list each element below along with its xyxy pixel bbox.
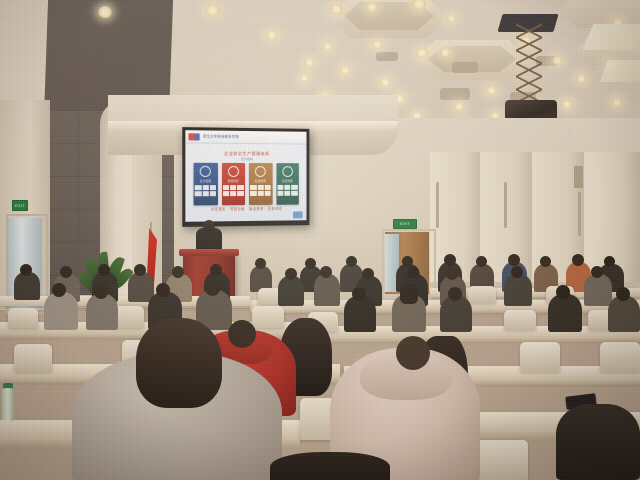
- slide-panel-group: 安全管理 风险管控 隐患排查: [194, 163, 299, 206]
- panel-cell-grid: [250, 184, 270, 195]
- downlight: [98, 6, 112, 18]
- slide-panel-tan: 隐患排查: [249, 163, 272, 205]
- projector-scissor-lift: [516, 30, 542, 108]
- slide-panel-green: 应急管理: [276, 163, 299, 205]
- audience-head: [94, 285, 108, 299]
- chair[interactable]: [14, 344, 52, 372]
- panel-circle-icon: [228, 166, 239, 177]
- downlight: [380, 78, 391, 87]
- audience-person: [608, 296, 640, 332]
- ceiling-light-panel-1: [583, 24, 640, 50]
- audience-head: [52, 283, 66, 297]
- downlight: [416, 48, 428, 58]
- ceiling-vent-2: [440, 88, 470, 100]
- downlight: [486, 86, 497, 95]
- audience-head: [156, 283, 170, 297]
- person-foreground-right-dark: [556, 404, 640, 480]
- downlight: [372, 40, 383, 49]
- projection-screen-surface: 清华大学继续教育学院 企业安全生产管理体系 四大模块 安全管理 风险管控: [185, 130, 306, 222]
- audience-head: [346, 256, 357, 267]
- downlight: [304, 58, 315, 67]
- downlight: [446, 14, 457, 23]
- chair[interactable]: [504, 310, 536, 330]
- slide-panel-blue: 安全管理: [194, 163, 218, 206]
- audience-head: [444, 254, 456, 266]
- audience-person: [314, 274, 340, 306]
- audience-head: [352, 287, 366, 301]
- presenter-head: [203, 220, 215, 232]
- exit-sign-right: EXIT: [393, 219, 417, 229]
- slide-panel-red-caption: 风险管控: [228, 179, 239, 183]
- downlight: [340, 66, 350, 75]
- partition-handle-2[interactable]: [504, 182, 507, 228]
- audience-head: [205, 281, 220, 296]
- chair[interactable]: [8, 308, 38, 328]
- slide-subtitle: 四大模块: [185, 157, 306, 162]
- audience-head: [511, 266, 523, 278]
- slide-logo-icon: [188, 133, 199, 140]
- audience-head: [556, 285, 570, 299]
- downlight: [612, 98, 622, 107]
- person-pink-hoodie-head: [396, 336, 430, 370]
- downlight: [454, 102, 464, 111]
- audience-head: [98, 264, 110, 276]
- audience-person: [504, 274, 532, 306]
- audience-head: [591, 266, 603, 278]
- audience-head: [285, 268, 297, 280]
- downlight: [562, 100, 572, 109]
- downlight: [322, 42, 333, 51]
- chair[interactable]: [520, 342, 560, 372]
- lecture-hall-photo: EXIT EXIT 清华大学继续教育学院 企业安全生产管理体系 四大模块 安全管…: [0, 0, 640, 480]
- ceiling-vent-5: [376, 52, 398, 61]
- downlight: [205, 4, 220, 17]
- audience-head: [255, 258, 266, 269]
- slide-header-text: 清华大学继续教育学院: [203, 133, 239, 138]
- partition-handle-1[interactable]: [436, 182, 439, 228]
- exit-sign-right-label: EXIT: [400, 222, 410, 226]
- audience-head: [540, 256, 551, 267]
- downlight: [552, 56, 563, 65]
- ceiling-vent-1: [452, 62, 478, 73]
- audience-head: [305, 258, 316, 269]
- audience-person: [440, 296, 472, 332]
- projection-screen: 清华大学继续教育学院 企业安全生产管理体系 四大模块 安全管理 风险管控: [182, 127, 309, 227]
- audience-head: [446, 268, 458, 280]
- chair[interactable]: [252, 306, 284, 328]
- audience-head: [508, 254, 520, 266]
- downlight: [440, 48, 451, 57]
- audience-head: [604, 256, 615, 267]
- slide-footer-text: 责任落实 · 风险分级 · 隐患排查 · 应急响应: [185, 205, 306, 211]
- downlight: [366, 2, 378, 12]
- audience-person: [344, 296, 376, 332]
- audience-head: [172, 266, 184, 278]
- exit-sign-left: EXIT: [12, 200, 28, 211]
- slide-panel-tan-caption: 隐患排查: [255, 178, 266, 182]
- audience-person: [584, 274, 612, 306]
- desk-row-4-edge: [300, 337, 640, 342]
- audience-person: [44, 292, 78, 330]
- panel-circle-icon: [200, 166, 211, 177]
- audience-head: [572, 254, 584, 266]
- person-red-hoodie-head: [228, 320, 256, 348]
- audience-person: [548, 294, 582, 332]
- audience-head: [20, 264, 32, 276]
- downlight: [300, 74, 309, 82]
- audience-head: [616, 287, 630, 301]
- audience-head: [407, 266, 419, 278]
- downlight: [266, 30, 278, 40]
- slide-panel-blue-caption: 安全管理: [200, 179, 211, 183]
- downlight: [330, 4, 343, 15]
- partition-handle-3[interactable]: [578, 192, 581, 236]
- audience-head: [320, 266, 332, 278]
- slide-panel-red: 风险管控: [222, 163, 246, 205]
- audience-person: [278, 276, 304, 306]
- audience-head: [476, 256, 487, 267]
- audience-head: [210, 264, 222, 276]
- water-bottle[interactable]: [2, 388, 14, 422]
- panel-cell-grid: [195, 185, 216, 196]
- audience-person: [86, 294, 118, 330]
- exit-sign-left-label: EXIT: [15, 204, 25, 208]
- audience-head: [448, 287, 462, 301]
- audience-head: [60, 266, 72, 278]
- lectern-top: [179, 249, 239, 256]
- audience-person: [14, 272, 40, 300]
- panel-cell-grid: [223, 185, 244, 196]
- panel-circle-icon: [255, 166, 266, 177]
- audience-head: [362, 268, 374, 280]
- slide-panel-green-caption: 应急管理: [282, 178, 293, 182]
- slide-corner-badge-icon: [293, 211, 303, 218]
- audience-head: [134, 264, 146, 276]
- panel-circle-icon: [282, 166, 293, 177]
- chair[interactable]: [468, 286, 496, 303]
- person-foreground-bottom-dark: [270, 452, 390, 480]
- panel-cell-grid: [277, 184, 297, 195]
- audience-hair: [400, 284, 418, 304]
- downlight: [576, 74, 587, 83]
- partition-plate: [574, 166, 583, 188]
- person-gray-sweater-hair: [136, 318, 222, 408]
- chair[interactable]: [600, 342, 640, 372]
